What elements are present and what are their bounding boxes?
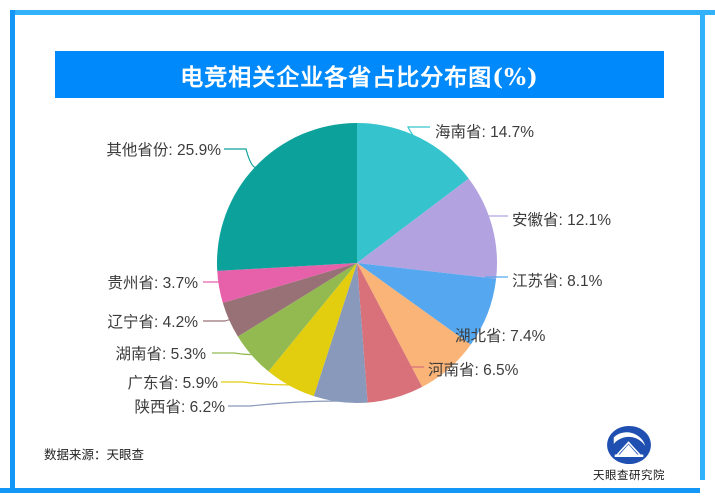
tianyancha-logo-icon (606, 425, 652, 465)
leader-line (228, 401, 340, 406)
page-title: 电竞相关企业各省占比分布图(%) (180, 58, 539, 92)
slice-label-shaanxi: 陕西省: 6.2% (135, 395, 225, 417)
slice-label-guizhou: 贵州省: 3.7% (108, 271, 198, 293)
slice-label-other: 其他省份: 25.9% (106, 138, 221, 160)
poster-canvas: 电竞相关企业各省占比分布图(%) 海南省: 14.7% 安徽省: 12.1% 江… (0, 0, 715, 503)
slice-label-jiangsu: 江苏省: 8.1% (512, 269, 602, 291)
leader-line (203, 320, 230, 321)
leader-line (212, 353, 252, 355)
slice-label-henan: 河南省: 6.5% (428, 358, 518, 380)
slice-label-hainan: 海南省: 14.7% (435, 120, 534, 142)
slice-label-anhui: 安徽省: 12.1% (512, 208, 611, 230)
pie-chart: 海南省: 14.7% 安徽省: 12.1% 江苏省: 8.1% 湖北省: 7.4… (0, 105, 715, 425)
data-source-note: 数据来源：天眼查 (44, 444, 144, 463)
brand-logo-text: 天眼查研究院 (593, 467, 665, 483)
frame-border-bottom (0, 488, 700, 493)
leader-line (221, 382, 290, 385)
brand-logo: 天眼查研究院 (581, 425, 677, 487)
frame-border-top (10, 10, 715, 15)
slice-label-liaoning: 辽宁省: 4.2% (108, 310, 198, 332)
slice-label-hubei: 湖北省: 7.4% (455, 324, 545, 346)
leader-line (224, 149, 256, 168)
slice-label-hunan: 湖南省: 5.3% (116, 342, 206, 364)
slice-label-guangdong: 广东省: 5.9% (128, 371, 218, 393)
pie-slice (217, 123, 357, 271)
title-banner: 电竞相关企业各省占比分布图(%) (55, 51, 664, 98)
